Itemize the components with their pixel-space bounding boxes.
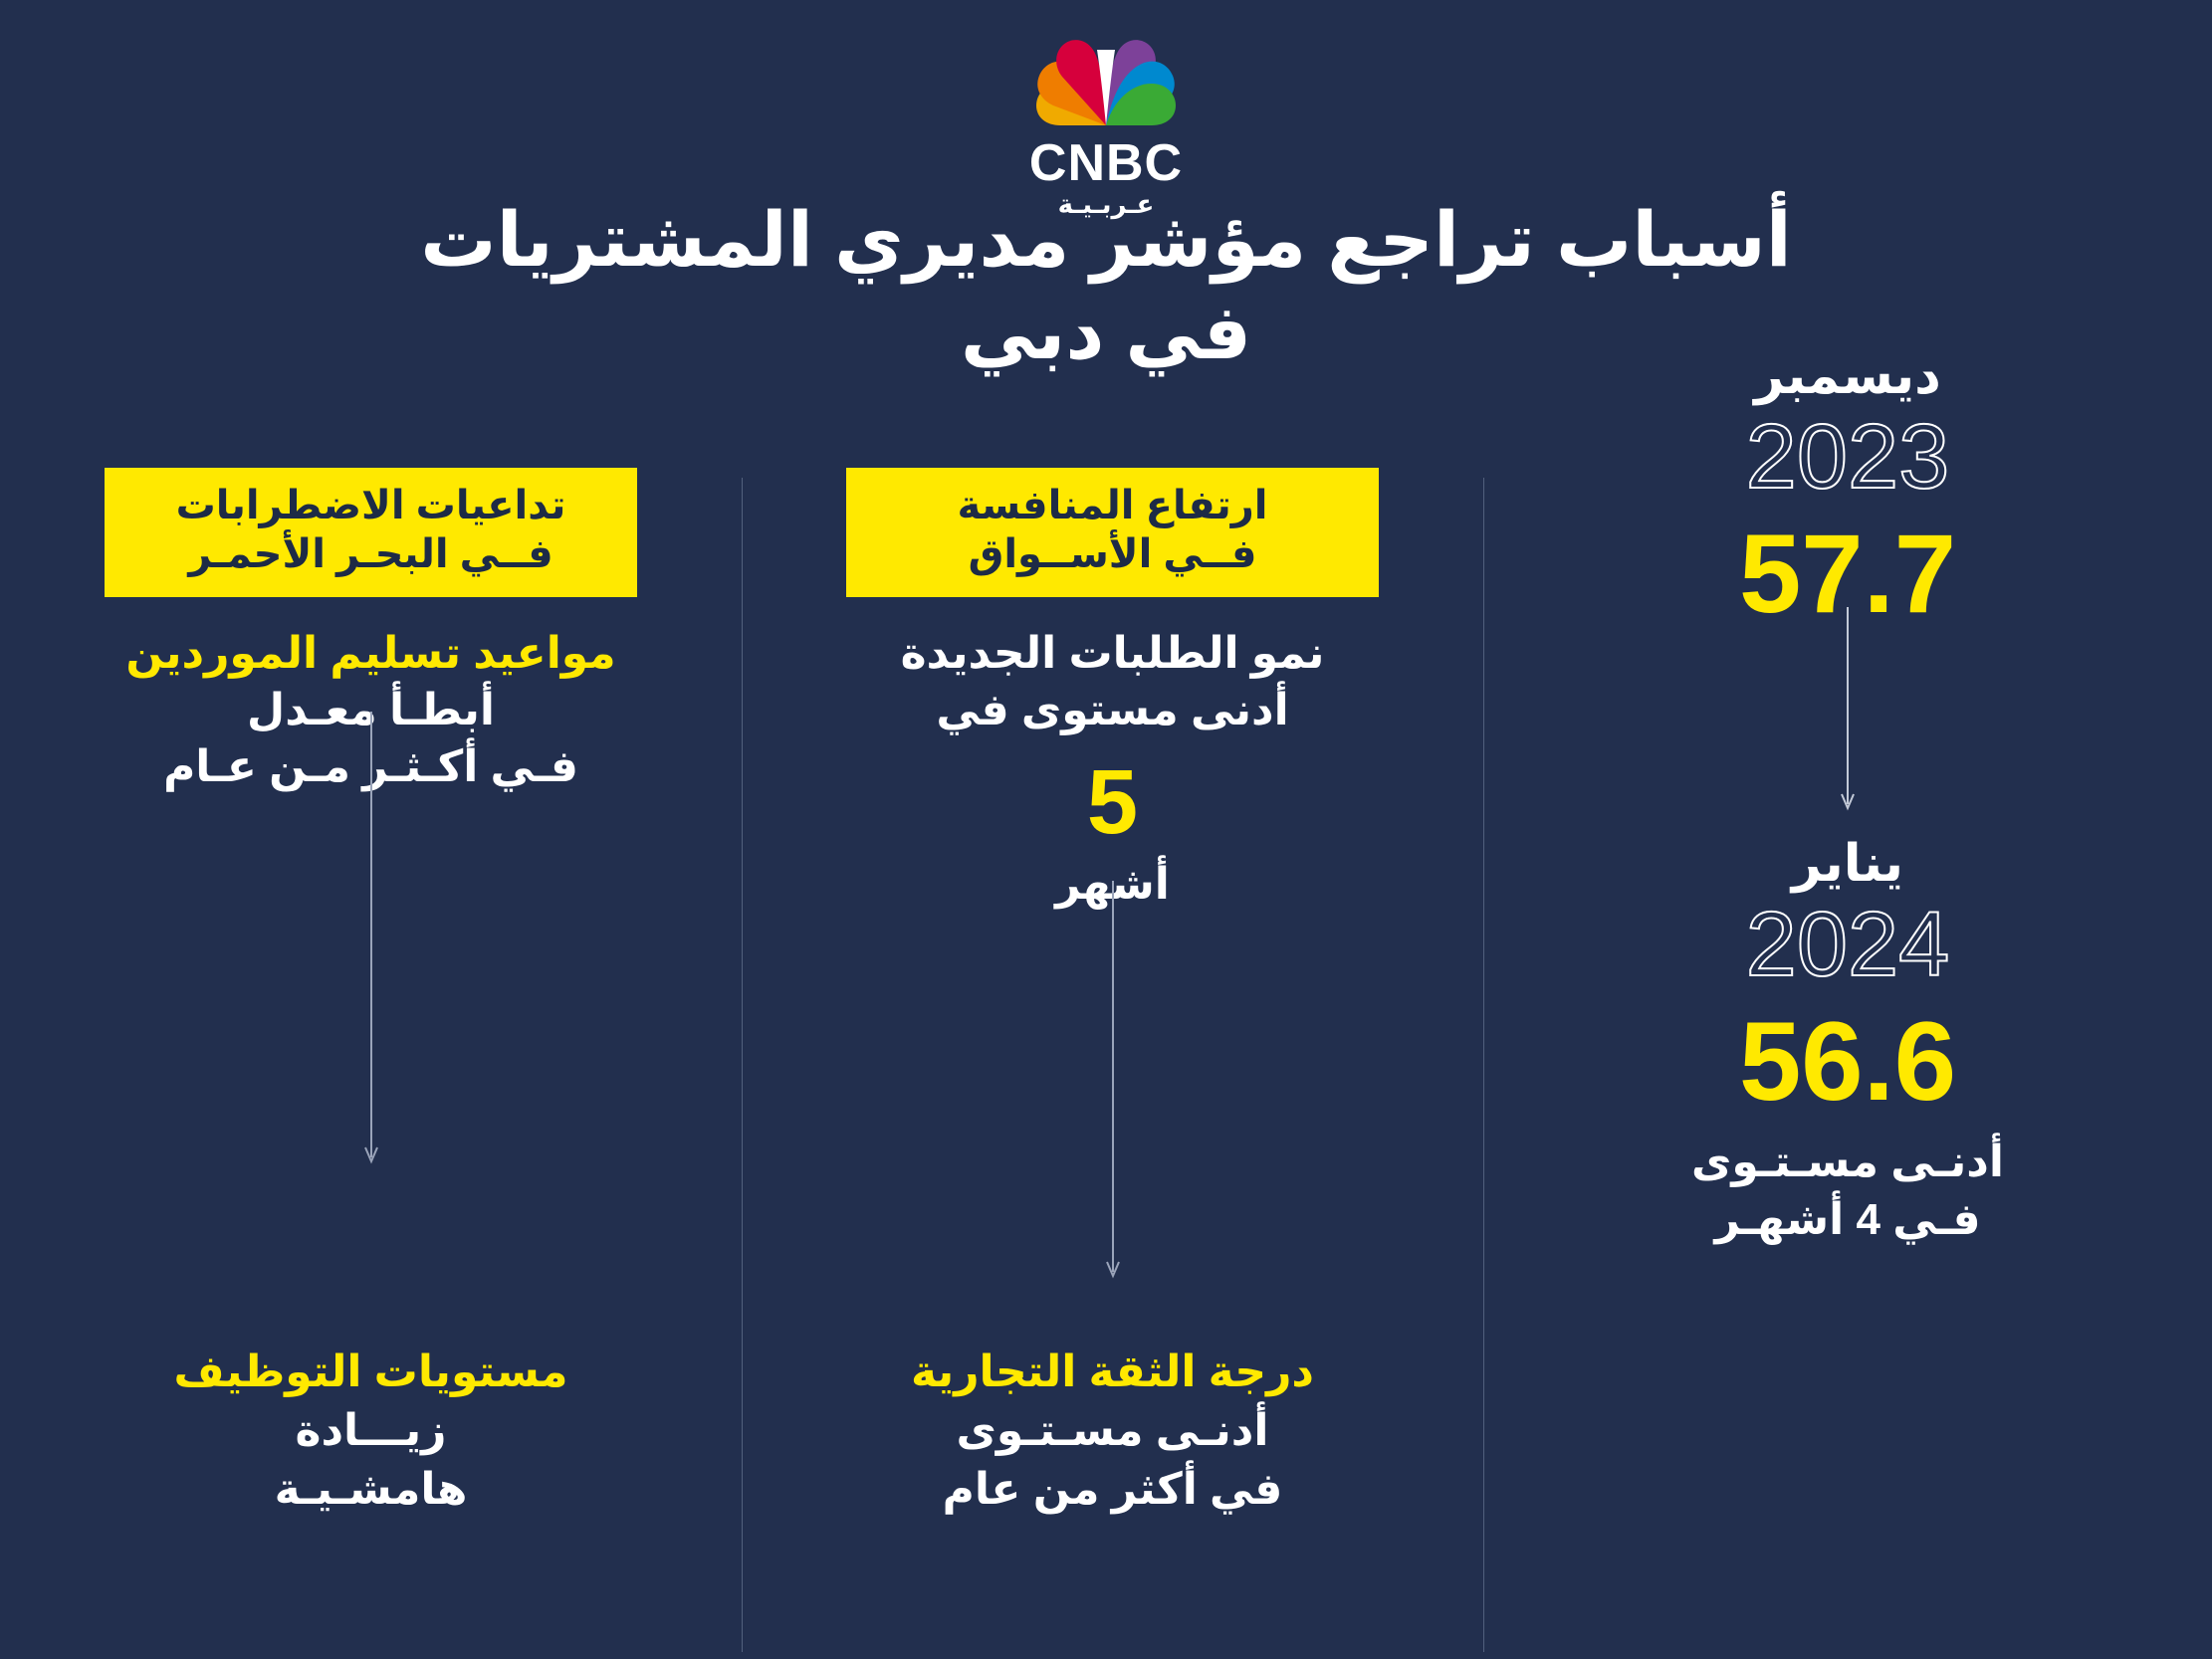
reason-bottom-red-sea: مستويات التوظيف زيـــادة هامشـيـة (0, 1344, 742, 1520)
body-line-1: نمو الطلبات الجديدة (742, 625, 1483, 682)
bottom-line-1: زيـــادة (0, 1402, 742, 1461)
reason-chip-competition: ارتفاع المنافسة فــي الأســواق (846, 468, 1379, 597)
reason-chip-red-sea: تداعيات الاضطرابات فــي البحـر الأحمـر (105, 468, 637, 597)
title-line-1: أسباب تراجع مؤشر مديري المشتريات (0, 195, 2212, 288)
reason-bottom-competition: درجة الثقة التجارية أدنـى مسـتـوى في أكث… (742, 1344, 1483, 1520)
chip-line-1: ارتفاع المنافسة (864, 482, 1361, 530)
period-year: 2023 (1483, 411, 2212, 503)
chip-line-2: فــي الأســواق (864, 530, 1361, 579)
bottom-accent-line: مستويات التوظيف (0, 1344, 742, 1402)
body-accent-line: مواعيد تسليم الموردين (0, 625, 742, 682)
period-january: يناير 2024 56.6 أدنـى مسـتـوى فـي 4 أشهـ… (1483, 836, 2212, 1249)
cnbc-peacock-icon (1031, 38, 1181, 133)
chip-line-1: تداعيات الاضطرابات (122, 482, 619, 530)
arrow-down-icon-index (1841, 607, 1855, 816)
bottom-line-1: أدنـى مسـتـوى (742, 1402, 1483, 1461)
reason-body-competition: نمو الطلبات الجديدة أدنى مستوى في (742, 625, 1483, 738)
arrow-down-icon-competition (1106, 881, 1120, 1284)
bottom-accent-line: درجة الثقة التجارية (742, 1344, 1483, 1402)
period-note-line-2: فـي 4 أشهـر (1483, 1191, 2212, 1249)
bottom-line-2: هامشـيـة (0, 1461, 742, 1520)
columns-container: ديسمبر 2023 57.7 يناير 2024 56.6 أدنـى م… (0, 468, 2212, 1659)
column-divider (742, 478, 743, 1652)
period-month: ديسمبر (1483, 348, 2212, 405)
index-column: ديسمبر 2023 57.7 يناير 2024 56.6 أدنـى م… (1483, 468, 2212, 1659)
chip-line-2: فــي البحـر الأحمـر (122, 530, 619, 579)
bottom-line-2: في أكثر من عام (742, 1461, 1483, 1520)
period-month: يناير (1483, 836, 2212, 893)
arrow-down-icon-red-sea (364, 712, 378, 1169)
period-year: 2024 (1483, 899, 2212, 990)
column-divider (1483, 478, 1484, 1652)
period-value: 56.6 (1483, 1006, 2212, 1118)
reason-big-number: 5 (742, 752, 1483, 853)
reason-column-competition: ارتفاع المنافسة فــي الأســواق نمو الطلب… (742, 468, 1483, 1659)
body-line-2: أدنى مستوى في (742, 682, 1483, 738)
period-december: ديسمبر 2023 57.7 (1483, 348, 2212, 630)
period-note-line-1: أدنـى مسـتـوى (1483, 1134, 2212, 1191)
infographic-canvas: CNBC عـربـيـة أسباب تراجع مؤشر مديري الم… (0, 0, 2212, 1659)
period-note: أدنـى مسـتـوى فـي 4 أشهـر (1483, 1134, 2212, 1249)
reason-column-red-sea: تداعيات الاضطرابات فــي البحـر الأحمـر م… (0, 468, 742, 1659)
cnbc-arabia-logo: CNBC عـربـيـة (0, 38, 2212, 217)
cnbc-wordmark: CNBC (1029, 137, 1183, 189)
